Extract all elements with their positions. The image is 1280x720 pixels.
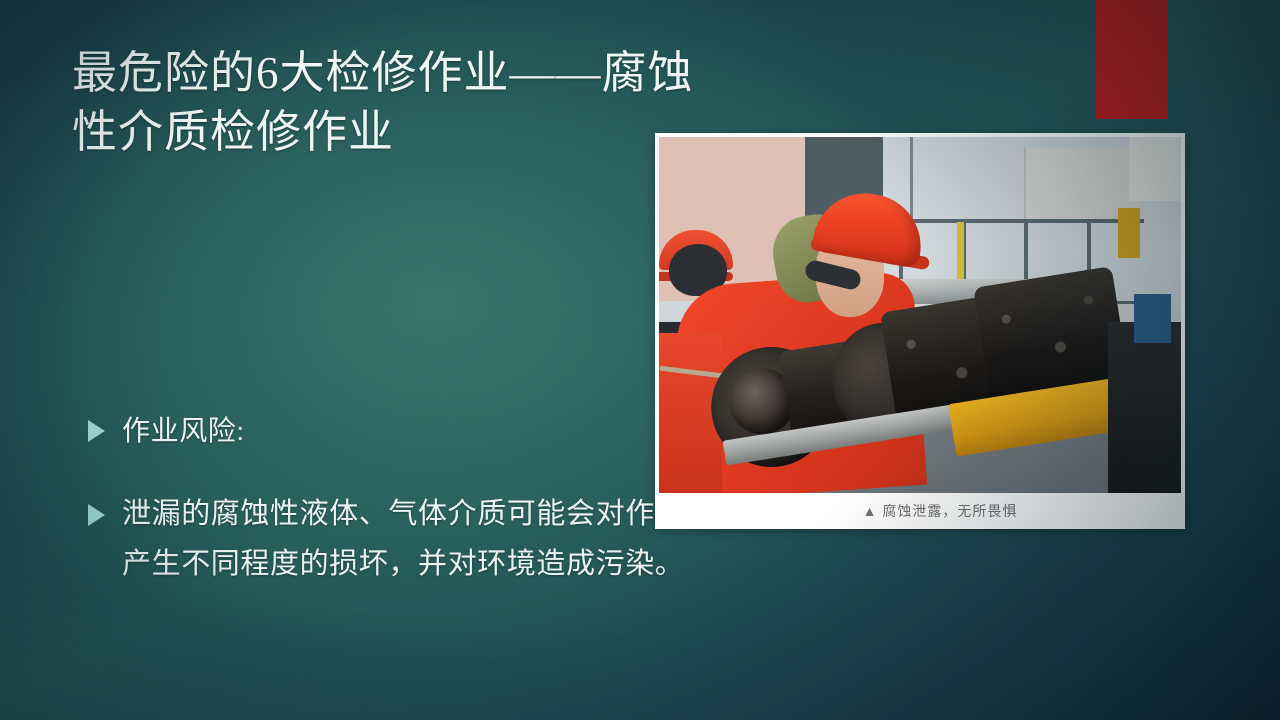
- photo-card: ▲ 腐蚀泄露，无所畏惧: [655, 133, 1185, 529]
- photo-blue-equipment: [1134, 294, 1171, 344]
- photo-storage-tank-far: [1129, 137, 1181, 201]
- photo-dark-drum: [1108, 322, 1181, 493]
- red-accent-bar: [1096, 0, 1168, 119]
- bullet-item-label: 作业风险:: [122, 408, 245, 456]
- photo-caption: ▲ 腐蚀泄露，无所畏惧: [659, 493, 1181, 529]
- triangle-right-bullet-icon: [88, 504, 105, 526]
- maintenance-photo: [659, 137, 1181, 493]
- presentation-slide: 最危险的6大检修作业——腐蚀性介质检修作业 作业风险: 泄漏的腐蚀性液体、气体介…: [0, 0, 1280, 720]
- triangle-right-bullet-icon: [88, 420, 105, 442]
- slide-title: 最危险的6大检修作业——腐蚀性介质检修作业: [72, 44, 712, 163]
- photo-yellow-valve: [1118, 208, 1140, 258]
